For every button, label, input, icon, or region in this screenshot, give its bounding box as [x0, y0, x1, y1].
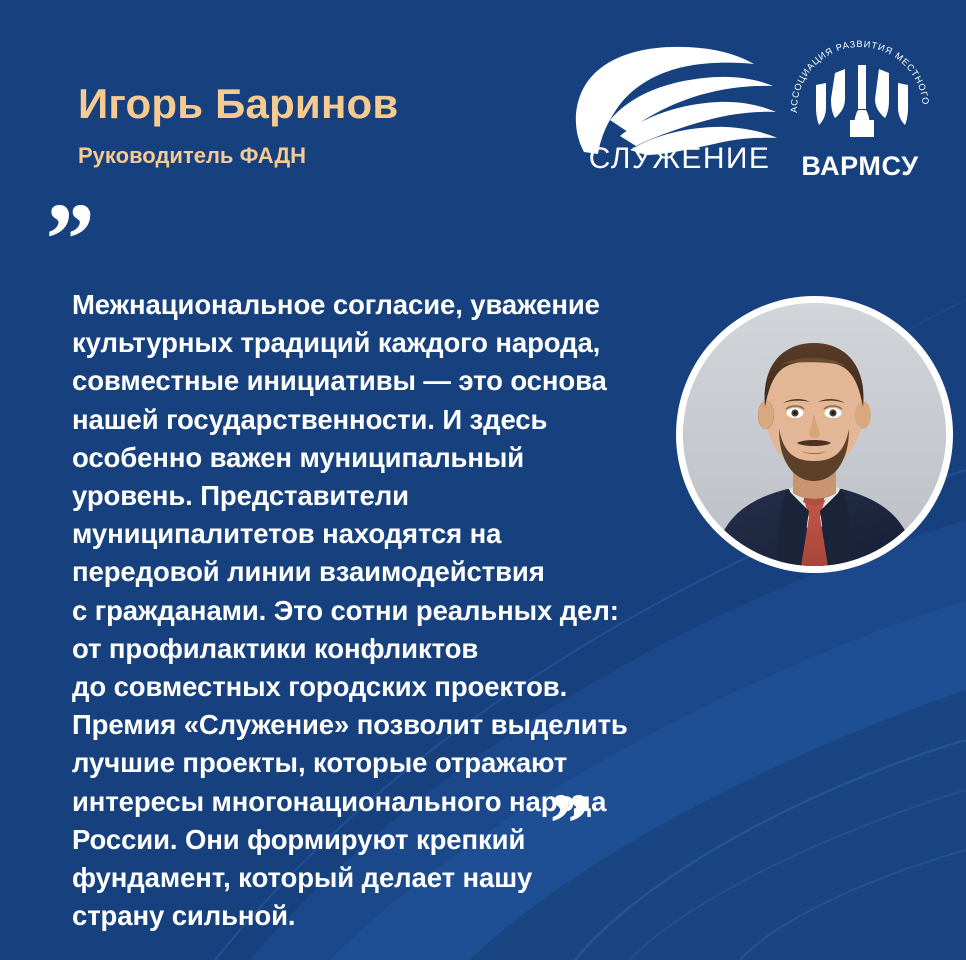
quote-line: страну сильной. [72, 897, 672, 935]
varmsu-abbreviation: ВАРМСУ [801, 151, 919, 181]
quote-line: уровень. Представители [72, 477, 672, 515]
person-role: Руководитель ФАДН [78, 144, 398, 168]
quote-line: передовой линии взаимодействия [72, 553, 672, 591]
quote-close-mark: ” [545, 780, 588, 866]
quote-line: до совместных городских проектов. [72, 668, 672, 706]
varmsu-logo: ВСЕРОССИЙСКАЯ АССОЦИАЦИЯ РАЗВИТИЯ МЕСТНО… [775, 25, 945, 195]
sluzhenie-wordmark: СЛУЖЕНИЕ [576, 142, 783, 176]
quote-line: культурных традиций каждого народа, [72, 324, 672, 362]
quote-line: совместные инициативы — это основа [72, 362, 672, 400]
page-title: Игорь Баринов [78, 82, 398, 126]
wing-swoosh-icon [568, 40, 783, 155]
quote-line: от профилактики конфликтов [72, 630, 672, 668]
quote-open-mark: ” [40, 188, 92, 292]
quote-line: с гражданами. Это сотни реальных дел: [72, 592, 672, 630]
card-header: Игорь Баринов Руководитель ФАДН СЛУЖЕНИЕ [0, 0, 966, 205]
sprout-icon [816, 65, 908, 137]
quote-line: особенно важен муниципальный [72, 439, 672, 477]
quote-line: Премия «Служение» позволит выделить [72, 706, 672, 744]
quote-card: Игорь Баринов Руководитель ФАДН СЛУЖЕНИЕ [0, 0, 966, 960]
sluzhenie-logo: СЛУЖЕНИЕ [568, 40, 783, 190]
quote-line: муниципалитетов находятся на [72, 515, 672, 553]
quote-line: Межнациональное согласие, уважение [72, 286, 672, 324]
name-block: Игорь Баринов Руководитель ФАДН [78, 82, 398, 168]
avatar [683, 303, 946, 566]
quote-line: нашей государственности. И здесь [72, 401, 672, 439]
